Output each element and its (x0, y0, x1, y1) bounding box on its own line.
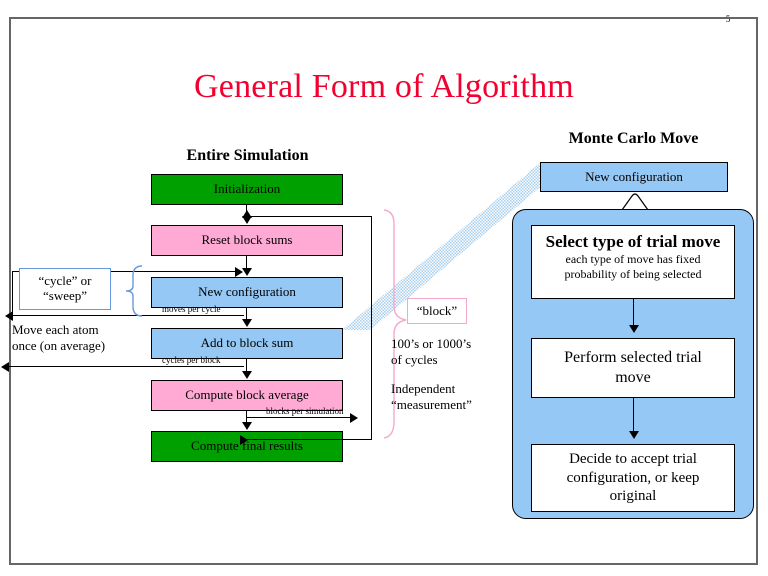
arrow-blocks-per-simulation-right (350, 413, 358, 423)
mc-step-select-trial-move[interactable]: Select type of trial move each type of m… (531, 225, 735, 299)
arrow-moves-per-cycle-right (235, 267, 243, 277)
left-column-heading: Entire Simulation (140, 147, 355, 165)
flow-box-label: New configuration (198, 285, 296, 299)
block-annotation-label: “block” (417, 304, 457, 319)
arrow-feedback-corner (240, 435, 248, 445)
mc-connector-2-to-3 (633, 398, 634, 434)
arrow-add-to-blockavg (242, 371, 252, 379)
arrow-cycles-per-block-left (1, 362, 9, 372)
monte-carlo-move-panel: Select type of trial move each type of m… (512, 209, 754, 519)
arrow-newconf-to-add (242, 319, 252, 327)
cycle-annotation-box[interactable]: “cycle” or “sweep” (19, 268, 111, 310)
mc-step-line1: Decide to accept trial (569, 451, 697, 467)
mc-step-line1: Perform selected trial (564, 349, 702, 366)
mc-step-headline: Select type of trial move (532, 231, 734, 252)
page-title: General Form of Algorithm (0, 68, 768, 106)
cycle-note-line2: once (on average) (12, 338, 105, 353)
cycle-annotation-label: “cycle” or “sweep” (20, 274, 110, 304)
mc-step-line3: original (610, 488, 657, 504)
loop-label-cycles-per-block: cycles per block (162, 355, 220, 365)
mc-arrow-1-to-2 (629, 325, 639, 333)
slide-canvas: 5 General Form of Algorithm Entire Simul… (0, 0, 768, 576)
block-note-measurement: Independent “measurement” (391, 381, 501, 412)
arrow-reset-to-newconf (242, 268, 252, 276)
flow-box-reset-block-sums[interactable]: Reset block sums (151, 225, 343, 256)
mc-connector-1-to-2 (633, 299, 634, 327)
mc-step-subline2: probability of being selected (532, 267, 734, 282)
block-note-line2: of cycles (391, 352, 438, 367)
flow-box-initialization[interactable]: Initialization (151, 174, 343, 205)
loop-label-moves-per-cycle: moves per cycle (162, 304, 220, 314)
loop-feedback-bottom (246, 439, 372, 440)
loop-blocks-horizontal (246, 417, 352, 418)
loop-feedback-riser (371, 216, 372, 440)
mc-arrow-2-to-3 (629, 431, 639, 439)
loop-feedback-top (247, 216, 372, 217)
mc-box-new-configuration[interactable]: New configuration (540, 162, 728, 192)
mc-step-line2: move (615, 369, 651, 386)
loop-label-blocks-per-simulation: blocks per simulation (266, 406, 344, 416)
mc-step-text: Perform selected trial move (564, 348, 702, 388)
flow-box-label: Initialization (214, 182, 280, 196)
block-note-line3: Independent (391, 381, 455, 396)
mc-step-subline1: each type of move has fixed (532, 252, 734, 267)
cycle-note: Move each atom once (on average) (12, 322, 142, 353)
block-note-line1: 100’s or 1000’s (391, 336, 471, 351)
flow-box-label: Compute block average (185, 388, 308, 402)
mc-step-text: Decide to accept trial configuration, or… (567, 450, 700, 506)
cycle-note-line1: Move each atom (12, 322, 99, 337)
block-note-cycles: 100’s or 1000’s of cycles (391, 336, 501, 367)
cycle-brace (110, 264, 144, 318)
loop-cycles-horizontal (8, 366, 244, 367)
mc-step-perform-trial-move[interactable]: Perform selected trial move (531, 338, 735, 398)
block-annotation-box[interactable]: “block” (407, 298, 467, 324)
flow-box-label: Reset block sums (202, 233, 293, 247)
flow-box-label: Add to block sum (201, 336, 294, 350)
arrow-blockavg-to-final (242, 422, 252, 430)
mc-box-label: New configuration (585, 169, 683, 185)
arrow-feedback-up (242, 210, 252, 218)
mc-step-decide-accept[interactable]: Decide to accept trial configuration, or… (531, 444, 735, 512)
loop-moves-vertical (12, 271, 13, 316)
mc-step-line2: configuration, or keep (567, 470, 700, 486)
block-note-line4: “measurement” (391, 397, 472, 412)
right-column-heading: Monte Carlo Move (512, 130, 755, 148)
